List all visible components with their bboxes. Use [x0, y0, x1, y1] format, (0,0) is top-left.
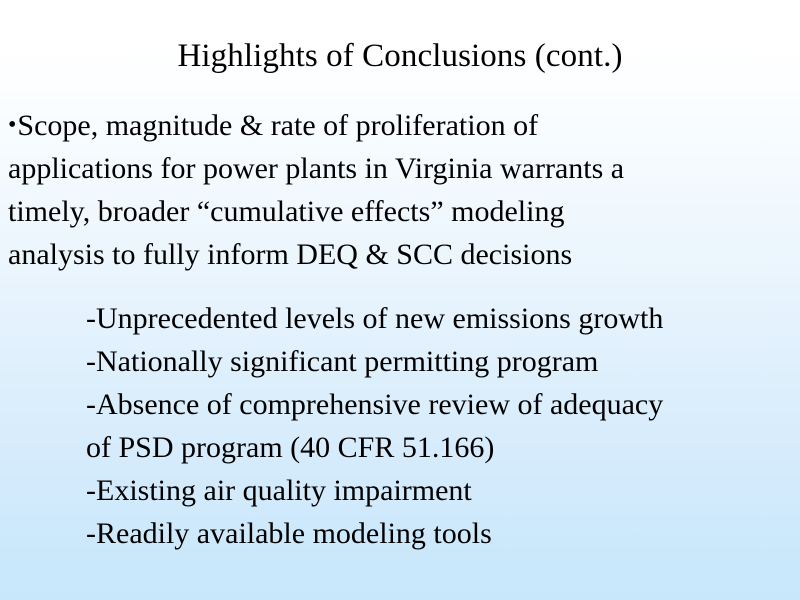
sub-bullet-first-line: -Existing air quality impairment	[86, 469, 800, 512]
sub-bullet-line-text: Absence of comprehensive review of adequ…	[96, 388, 663, 421]
sub-bullet-line-text: of PSD program (40 CFR 51.166)	[86, 426, 800, 469]
main-bullet-list: •Scope, magnitude & rate of proliferatio…	[0, 104, 800, 276]
bullet-line-text: analysis to fully inform DEQ & SCC decis…	[8, 233, 784, 276]
sub-bullet-item: -Readily available modeling tools	[86, 512, 800, 555]
sub-bullet-item: -Unprecedented levels of new emissions g…	[86, 297, 800, 340]
bullet-line-text: applications for power plants in Virgini…	[8, 147, 784, 190]
sub-bullet-dash-icon: -	[86, 302, 96, 335]
sub-bullet-line-text: Existing air quality impairment	[96, 474, 472, 507]
bullet-dot-icon: •	[8, 104, 16, 147]
bullet-line-text: Scope, magnitude & rate of proliferation…	[17, 109, 538, 142]
page-title: Highlights of Conclusions (cont.)	[0, 36, 800, 76]
sub-bullet-dash-icon: -	[86, 517, 96, 550]
bullet-line-text: timely, broader “cumulative effects” mod…	[8, 190, 784, 233]
sub-bullet-dash-icon: -	[86, 474, 96, 507]
sub-bullet-first-line: -Absence of comprehensive review of adeq…	[86, 383, 800, 426]
bullet-item: •Scope, magnitude & rate of proliferatio…	[0, 104, 800, 276]
sub-bullet-first-line: -Nationally significant permitting progr…	[86, 340, 800, 383]
sub-bullet-item: -Existing air quality impairment	[86, 469, 800, 512]
sub-bullet-item: -Nationally significant permitting progr…	[86, 340, 800, 383]
sub-bullet-dash-icon: -	[86, 388, 96, 421]
sub-bullet-first-line: -Unprecedented levels of new emissions g…	[86, 297, 800, 340]
sub-bullet-line-text: Unprecedented levels of new emissions gr…	[96, 302, 663, 335]
bullet-first-line: •Scope, magnitude & rate of proliferatio…	[8, 104, 784, 147]
sub-bullet-first-line: -Readily available modeling tools	[86, 512, 800, 555]
sub-bullet-line-text: Readily available modeling tools	[96, 517, 492, 550]
sub-bullet-list: -Unprecedented levels of new emissions g…	[86, 297, 800, 555]
sub-bullet-line-text: Nationally significant permitting progra…	[96, 345, 598, 378]
sub-bullet-item: -Absence of comprehensive review of adeq…	[86, 383, 800, 469]
sub-bullet-dash-icon: -	[86, 345, 96, 378]
slide-canvas: Highlights of Conclusions (cont.) •Scope…	[0, 0, 800, 600]
